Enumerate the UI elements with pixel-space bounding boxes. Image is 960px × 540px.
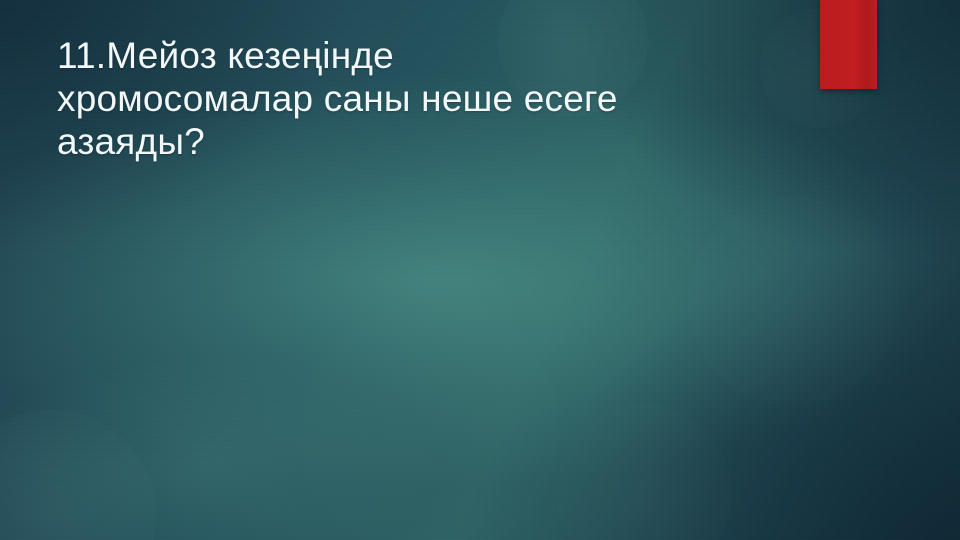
presentation-slide: 11.Мейоз кезеңінде хромосомалар саны неш… (0, 0, 960, 540)
slide-title-line-1: 11.Мейоз кезеңінде (57, 34, 847, 77)
bokeh-circle-3 (688, 196, 898, 406)
slide-title-line-2: хромосомалар саны неше есеге (57, 77, 847, 120)
bokeh-circle-4 (556, 404, 732, 540)
bokeh-circle-6 (300, 300, 560, 540)
slide-title-line-3: азаяды? (57, 120, 847, 163)
bokeh-circle-5 (0, 410, 156, 540)
slide-title: 11.Мейоз кезеңінде хромосомалар саны неш… (57, 34, 847, 163)
